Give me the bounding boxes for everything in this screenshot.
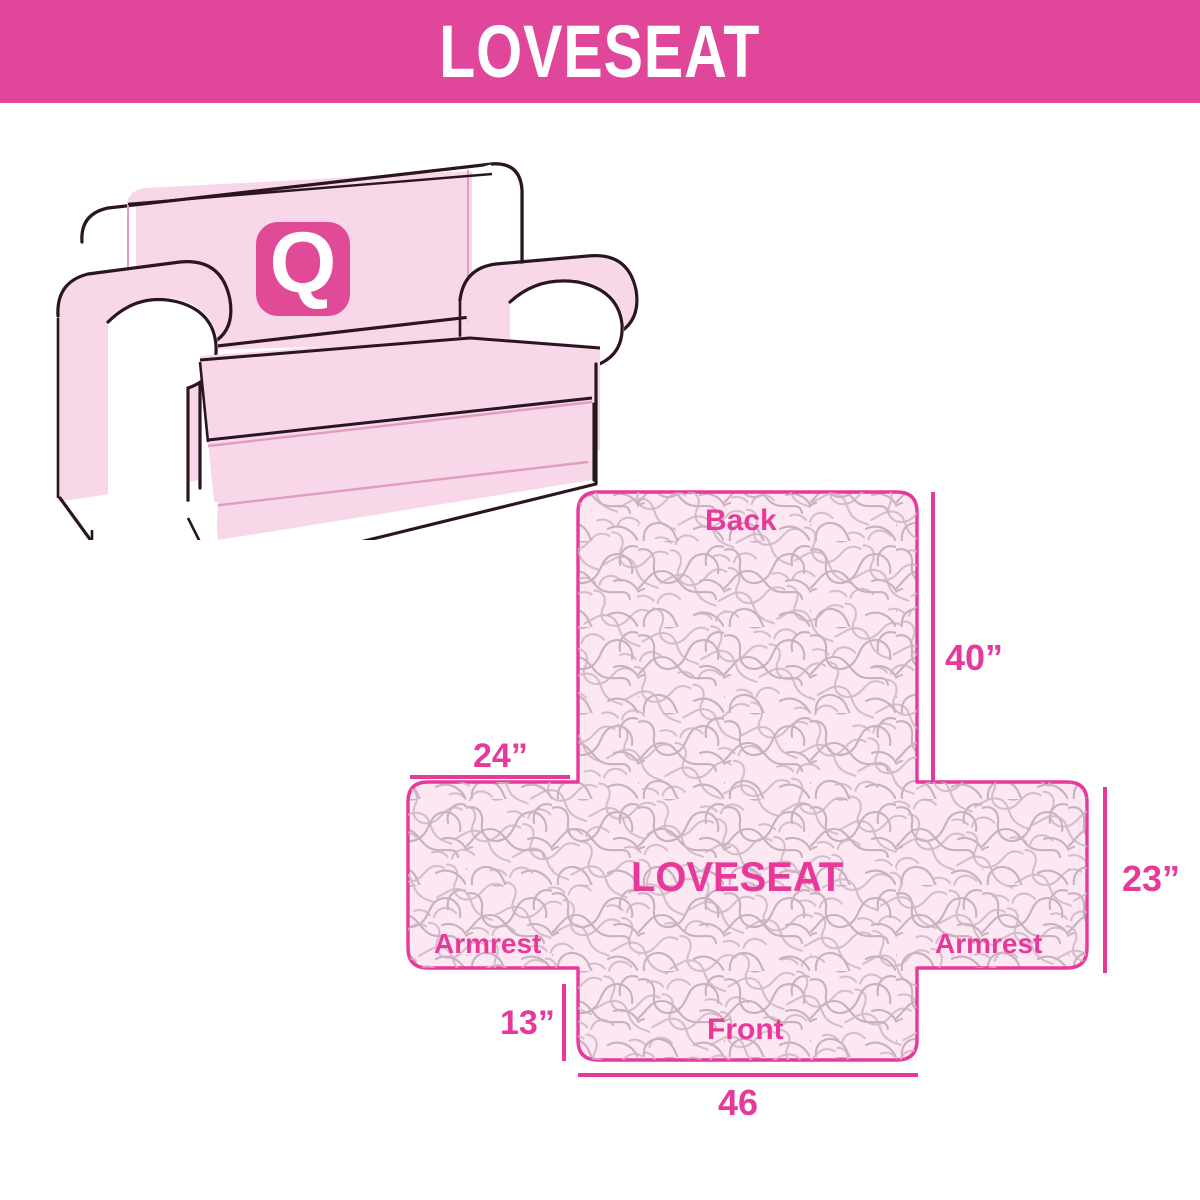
dimension-line-armrest-width xyxy=(410,775,570,779)
dimension-line-front-width xyxy=(578,1073,918,1077)
dimension-label-front-height: 13” xyxy=(500,1006,555,1040)
product-dimension-diagram-page: LOVESEAT xyxy=(0,0,1200,1200)
dimension-label-front-width: 46 xyxy=(718,1085,758,1121)
section-label-center: LOVESEAT xyxy=(631,856,843,898)
section-label-armrest-right: Armrest xyxy=(935,930,1042,958)
section-label-back: Back xyxy=(705,506,777,536)
dimension-line-back-height xyxy=(931,492,935,782)
dimension-label-back-height: 40” xyxy=(945,640,1003,676)
page-title: LOVESEAT xyxy=(439,15,760,89)
header-banner: LOVESEAT xyxy=(0,0,1200,103)
dimension-label-center-height: 23” xyxy=(1122,861,1180,897)
section-label-front: Front xyxy=(707,1015,784,1045)
dimension-line-front-height xyxy=(562,984,566,1061)
logo-letter-q: Q xyxy=(270,215,337,311)
brand-logo-badge: Q xyxy=(256,215,350,316)
left-armrest-inner-fill xyxy=(108,298,218,525)
dimension-line-center-height xyxy=(1103,787,1107,973)
dimension-label-armrest-width: 24” xyxy=(473,739,528,773)
section-label-armrest-left: Armrest xyxy=(434,930,541,958)
